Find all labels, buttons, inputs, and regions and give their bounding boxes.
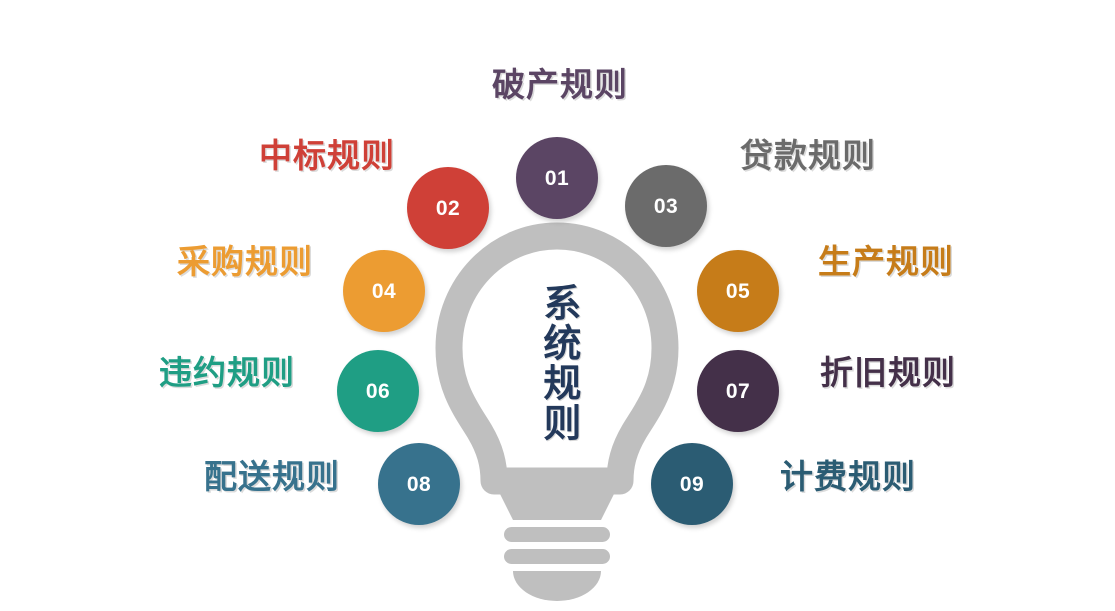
node-label-09[interactable]: 计费规则 (780, 460, 1005, 493)
node-circle-02[interactable]: 02 (407, 167, 489, 249)
node-number-01: 01 (545, 168, 569, 189)
node-circle-09[interactable]: 09 (651, 443, 733, 525)
node-label-08[interactable]: 配送规则 (115, 460, 340, 493)
node-circle-06[interactable]: 06 (337, 350, 419, 432)
node-label-07[interactable]: 折旧规则 (820, 356, 1045, 389)
node-number-09: 09 (680, 474, 704, 495)
node-circle-05[interactable]: 05 (697, 250, 779, 332)
node-circle-07[interactable]: 07 (697, 350, 779, 432)
node-number-05: 05 (726, 281, 750, 302)
node-label-01[interactable]: 破产规则 (470, 68, 650, 101)
node-circle-04[interactable]: 04 (343, 250, 425, 332)
node-label-03[interactable]: 贷款规则 (740, 139, 965, 172)
node-circle-01[interactable]: 01 (516, 137, 598, 219)
node-number-08: 08 (407, 474, 431, 495)
node-label-02[interactable]: 中标规则 (170, 139, 395, 172)
node-number-04: 04 (372, 281, 396, 302)
node-number-07: 07 (726, 381, 750, 402)
node-circle-03[interactable]: 03 (625, 165, 707, 247)
node-label-06[interactable]: 违约规则 (80, 356, 295, 389)
node-number-03: 03 (654, 196, 678, 217)
node-label-05[interactable]: 生产规则 (818, 245, 1043, 278)
node-circle-08[interactable]: 08 (378, 443, 460, 525)
node-number-02: 02 (436, 198, 460, 219)
node-number-06: 06 (366, 381, 390, 402)
node-label-04[interactable]: 采购规则 (88, 245, 313, 278)
infographic-canvas: 系统规则 01破产规则02中标规则03贷款规则04采购规则05生产规则06违约规… (0, 0, 1115, 611)
center-label: 系统规则 (538, 283, 577, 443)
